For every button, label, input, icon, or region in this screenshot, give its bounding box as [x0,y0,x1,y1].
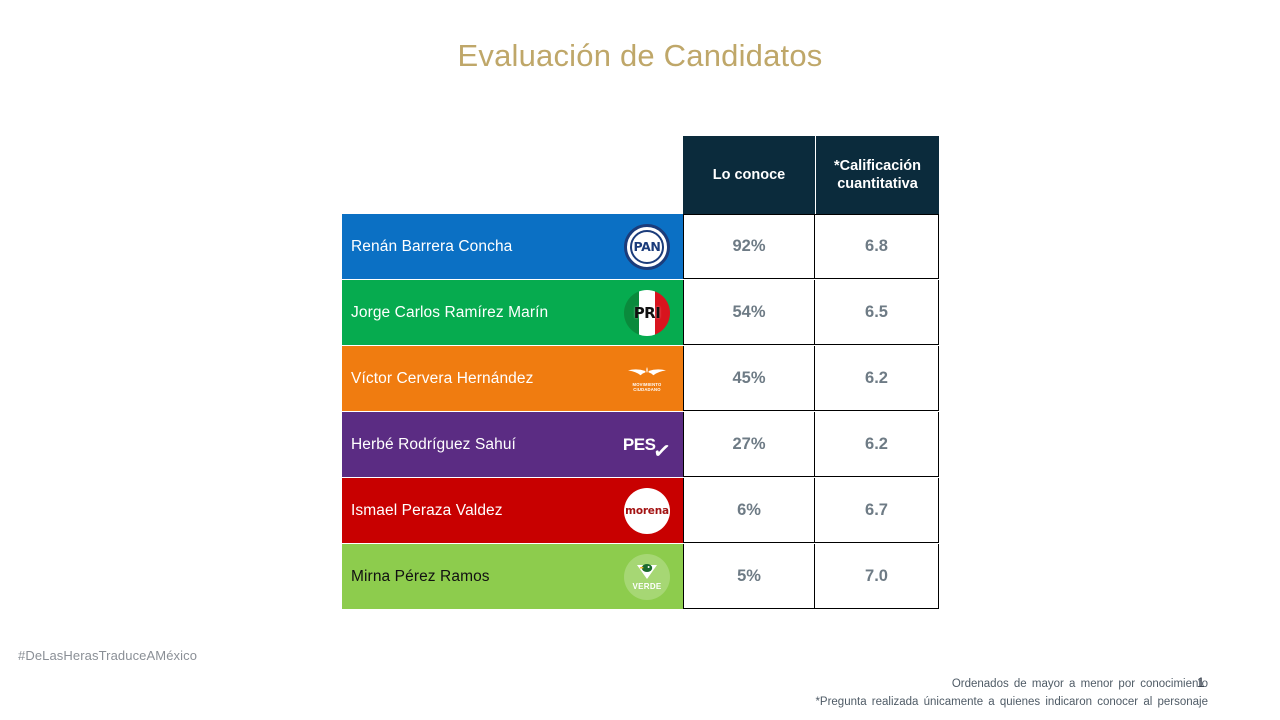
pes-logo-icon: PES ✓ [621,419,673,471]
cell-calificacion: 6.7 [815,478,939,543]
cell-lo-conoce: 27% [683,412,815,477]
pri-logo-icon: PRI [621,287,673,339]
cell-lo-conoce: 54% [683,280,815,345]
table-header-row: Lo conoce *Calificación cuantitativa [683,136,939,214]
page-title: Evaluación de Candidatos [0,38,1280,74]
cell-lo-conoce: 6% [683,478,815,543]
cell-calificacion: 6.2 [815,412,939,477]
candidate-name-bar: Jorge Carlos Ramírez Marín PRI [342,280,683,345]
candidate-name: Renán Barrera Concha [351,238,512,256]
movimiento-ciudadano-logo-icon: MOVIMIENTO CIUDADANO [621,353,673,405]
partido-verde-logo-icon: VERDE [621,551,673,603]
table-row: Herbé Rodríguez Sahuí PES ✓ 27% 6.2 [342,412,939,477]
table-row: Víctor Cervera Hernández MOVIMIENTO CIUD… [342,346,939,411]
table-row: Mirna Pérez Ramos VERDE 5% 7.0 [342,544,939,609]
footer-notes: Ordenados de mayor a menor por conocimie… [815,676,1208,712]
evaluation-table: Lo conoce *Calificación cuantitativa Ren… [342,136,939,610]
check-icon: ✓ [652,443,672,461]
candidate-name-bar: Mirna Pérez Ramos VERDE [342,544,683,609]
cell-calificacion: 6.5 [815,280,939,345]
table-row: Jorge Carlos Ramírez Marín PRI 54% 6.5 [342,280,939,345]
column-header-lo-conoce: Lo conoce [683,136,815,214]
mc-logo-text-line2: CIUDADANO [633,387,660,392]
cell-lo-conoce: 92% [683,214,815,279]
verde-logo-text: VERDE [632,583,661,591]
cell-lo-conoce: 5% [683,544,815,609]
morena-logo-icon: morena [621,485,673,537]
page-number: 1 [1197,674,1205,690]
candidate-name: Herbé Rodríguez Sahuí [351,436,516,454]
table-row: Ismael Peraza Valdez morena 6% 6.7 [342,478,939,543]
candidate-name: Ismael Peraza Valdez [351,502,503,520]
footer-note-question: *Pregunta realizada únicamente a quienes… [815,694,1208,712]
table-row: Renán Barrera Concha PAN 92% 6.8 [342,214,939,279]
pes-logo-text: PES [623,435,656,455]
candidate-name-bar: Víctor Cervera Hernández MOVIMIENTO CIUD… [342,346,683,411]
pri-logo-text: PRI [634,304,661,322]
candidate-name: Jorge Carlos Ramírez Marín [351,304,548,322]
pan-logo-icon: PAN [621,221,673,273]
footer-note-ordering: Ordenados de mayor a menor por conocimie… [815,676,1208,694]
cell-lo-conoce: 45% [683,346,815,411]
candidate-name-bar: Herbé Rodríguez Sahuí PES ✓ [342,412,683,477]
candidate-name: Víctor Cervera Hernández [351,370,533,388]
morena-logo-text: morena [625,505,669,517]
candidate-name: Mirna Pérez Ramos [351,568,490,586]
footer-hashtag: #DeLasHerasTraduceAMéxico [18,648,197,663]
pan-logo-text: PAN [630,230,664,264]
cell-calificacion: 6.2 [815,346,939,411]
table-body: Renán Barrera Concha PAN 92% 6.8 Jorge C… [342,214,939,609]
candidate-name-bar: Ismael Peraza Valdez morena [342,478,683,543]
column-header-calificacion-cuantitativa: *Calificación cuantitativa [816,136,939,214]
candidate-name-bar: Renán Barrera Concha PAN [342,214,683,279]
cell-calificacion: 7.0 [815,544,939,609]
cell-calificacion: 6.8 [815,214,939,279]
